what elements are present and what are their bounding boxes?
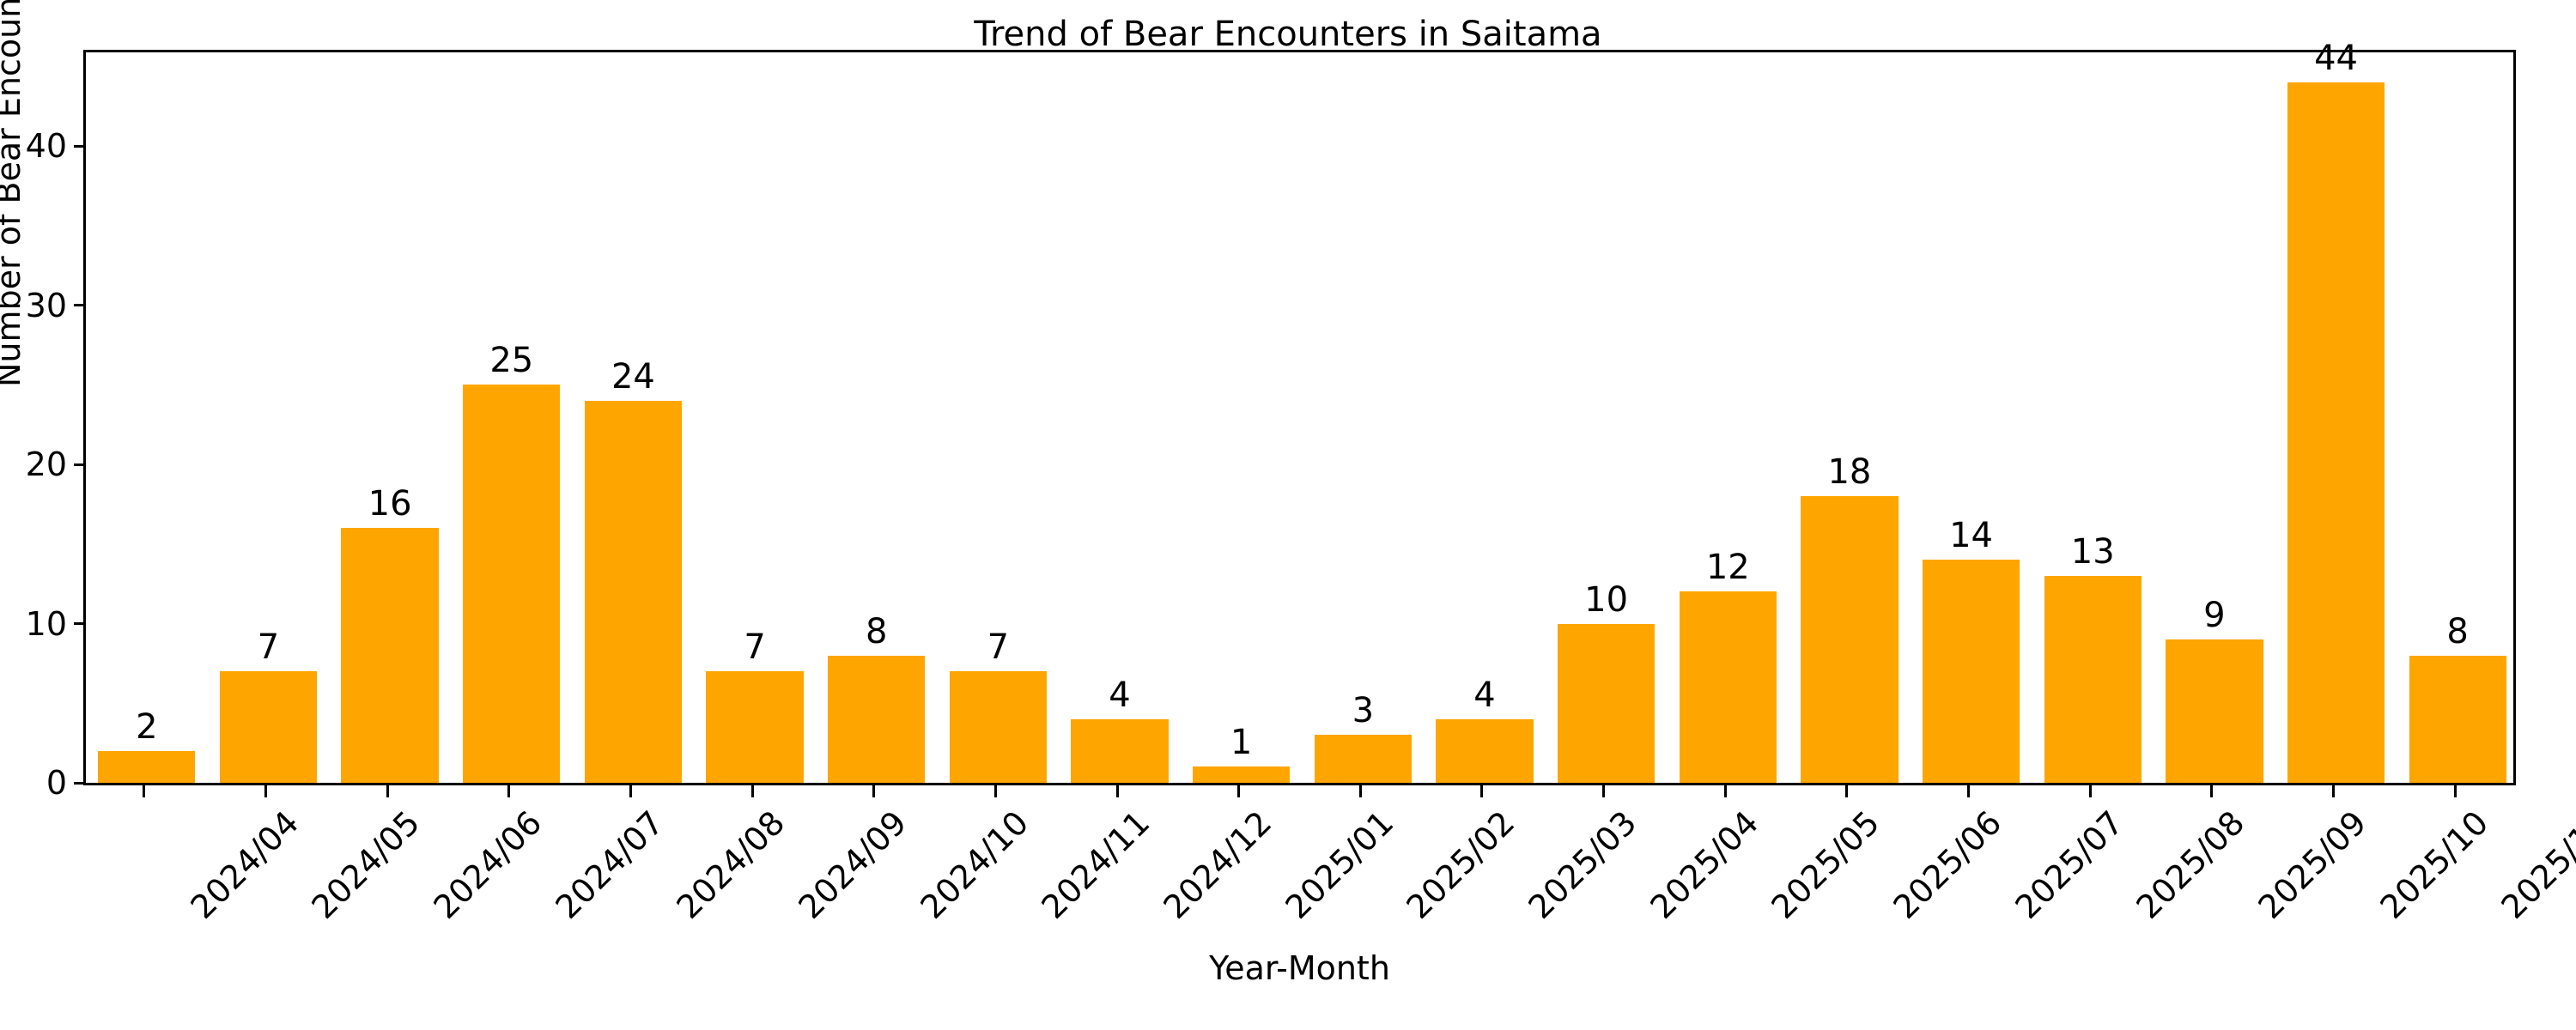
- y-tick-mark: [74, 145, 86, 148]
- x-tick-label: 2024/12: [1157, 804, 1278, 925]
- y-tick-mark: [74, 622, 86, 625]
- bar-group: 7: [706, 47, 803, 783]
- bar[interactable]: [1193, 766, 1290, 783]
- bar-value-label: 9: [2203, 597, 2225, 634]
- chart-figure: Trend of Bear Encounters in Saitama 2716…: [0, 0, 2576, 1030]
- bar[interactable]: [1923, 560, 2020, 783]
- x-tick-mark: [2089, 785, 2092, 797]
- bar-value-label: 24: [611, 358, 655, 396]
- x-tick-label: 2025/02: [1400, 804, 1522, 925]
- bar-value-label: 7: [258, 628, 279, 666]
- bar[interactable]: [2409, 656, 2506, 783]
- x-tick-label: 2025/10: [2373, 804, 2494, 925]
- x-tick-label: 2025/01: [1279, 804, 1400, 925]
- x-tick-label: 2025/09: [2251, 804, 2372, 925]
- x-tick-label: 2024/05: [306, 804, 427, 925]
- bar-value-label: 18: [1827, 453, 1871, 491]
- bar-value-label: 8: [866, 613, 887, 651]
- bar-group: 1: [1193, 47, 1290, 783]
- bar[interactable]: [1315, 735, 1412, 783]
- bar[interactable]: [341, 528, 438, 783]
- bar-value-label: 12: [1706, 548, 1750, 586]
- bar-group: 14: [1923, 47, 2020, 783]
- bar-group: 8: [2409, 47, 2506, 783]
- x-tick-mark: [1116, 785, 1119, 797]
- bar[interactable]: [828, 656, 925, 783]
- bar-value-label: 3: [1352, 692, 1374, 730]
- bar[interactable]: [2044, 576, 2142, 783]
- y-tick-mark: [74, 782, 86, 785]
- bar[interactable]: [950, 671, 1047, 783]
- bar-group: 7: [950, 47, 1047, 783]
- bar-group: 13: [2044, 47, 2142, 783]
- x-tick-mark: [2210, 785, 2213, 797]
- x-tick-mark: [1602, 785, 1605, 797]
- bar[interactable]: [1436, 719, 1533, 783]
- y-tick-label: 10: [26, 604, 67, 644]
- x-tick-label: 2024/09: [792, 804, 913, 925]
- y-tick-mark: [74, 463, 86, 466]
- bar[interactable]: [2287, 82, 2385, 783]
- x-tick-label: 2024/11: [1036, 804, 1157, 925]
- x-tick-label: 2025/03: [1522, 804, 1643, 925]
- plot-inner: 27162524787413410121814139448 010203040: [86, 52, 2513, 783]
- y-axis-label-text: Number of Bear Encounters: [0, 0, 26, 418]
- x-tick-label: 2024/08: [671, 804, 792, 925]
- bar-group: 18: [1801, 47, 1898, 783]
- y-axis-label: Number of Bear Encounters: [0, 0, 26, 418]
- x-tick-mark: [1845, 785, 1848, 797]
- bar-value-label: 8: [2446, 613, 2468, 651]
- bar-value-label: 25: [489, 342, 533, 379]
- bar[interactable]: [706, 671, 803, 783]
- x-axis-label: Year-Month: [83, 948, 2516, 988]
- bar-value-label: 1: [1230, 724, 1252, 761]
- x-tick-mark: [264, 785, 267, 797]
- bar-group: 3: [1315, 47, 1412, 783]
- x-tick-label: 2025/11: [2494, 804, 2576, 925]
- x-tick-label: 2025/04: [1643, 804, 1765, 925]
- bar-group: 9: [2166, 47, 2263, 783]
- bar-value-label: 14: [1949, 517, 1993, 554]
- bar-value-label: 4: [1109, 676, 1130, 714]
- x-tick-mark: [2454, 785, 2457, 797]
- bar-group: 4: [1071, 47, 1168, 783]
- bar-value-label: 13: [2071, 533, 2115, 571]
- x-tick-mark: [1480, 785, 1483, 797]
- x-tick-mark: [2332, 785, 2335, 797]
- x-tick-label: 2025/06: [1886, 804, 2008, 925]
- x-tick-label: 2024/07: [549, 804, 670, 925]
- x-tick-mark: [1237, 785, 1240, 797]
- bar[interactable]: [1071, 719, 1168, 783]
- x-tick-label: 2024/10: [914, 804, 1035, 925]
- bar-group: 10: [1558, 47, 1655, 783]
- x-tick-label: 2024/04: [184, 804, 305, 925]
- bar[interactable]: [1558, 624, 1655, 783]
- x-tick-mark: [751, 785, 754, 797]
- plot-area: 27162524787413410121814139448 010203040: [83, 50, 2516, 785]
- x-tick-mark: [629, 785, 632, 797]
- y-tick-label: 30: [26, 286, 67, 325]
- y-tick-label: 20: [26, 445, 67, 484]
- bar-value-label: 7: [987, 628, 1009, 666]
- bar-value-label: 16: [368, 485, 412, 523]
- bar-group: 2: [98, 47, 195, 783]
- x-tick-mark: [507, 785, 510, 797]
- bar-group: 44: [2287, 47, 2385, 783]
- x-tick-label: 2024/06: [427, 804, 548, 925]
- bar[interactable]: [98, 751, 195, 783]
- bar-value-label: 10: [1584, 581, 1628, 619]
- bar-value-label: 7: [744, 628, 765, 666]
- bar-group: 24: [585, 47, 682, 783]
- bar-group: 8: [828, 47, 925, 783]
- x-tick-label: 2025/08: [2129, 804, 2251, 925]
- bar-group: 12: [1680, 47, 1777, 783]
- bar[interactable]: [2166, 639, 2263, 783]
- x-tick-mark: [994, 785, 997, 797]
- bar-value-label: 4: [1473, 676, 1495, 714]
- x-tick-mark: [872, 785, 875, 797]
- y-tick-label: 40: [26, 126, 67, 166]
- bar[interactable]: [585, 401, 682, 783]
- bar-value-label: 44: [2314, 39, 2358, 77]
- x-tick-label: 2025/07: [2008, 804, 2129, 925]
- bar[interactable]: [463, 385, 560, 783]
- x-tick-mark: [1359, 785, 1362, 797]
- y-tick-mark: [74, 304, 86, 306]
- x-tick-mark: [386, 785, 389, 797]
- bar-group: 4: [1436, 47, 1533, 783]
- bar-group: 7: [220, 47, 317, 783]
- x-tick-mark: [1724, 785, 1727, 797]
- x-tick-mark: [143, 785, 145, 797]
- y-tick-label: 0: [46, 763, 67, 803]
- bar[interactable]: [1680, 591, 1777, 783]
- bar-group: 25: [463, 47, 560, 783]
- bar-group: 16: [341, 47, 438, 783]
- bar[interactable]: [220, 671, 317, 783]
- bar[interactable]: [1801, 496, 1898, 783]
- bar-value-label: 2: [136, 708, 157, 746]
- x-tick-label: 2025/05: [1765, 804, 1886, 925]
- x-tick-mark: [1967, 785, 1970, 797]
